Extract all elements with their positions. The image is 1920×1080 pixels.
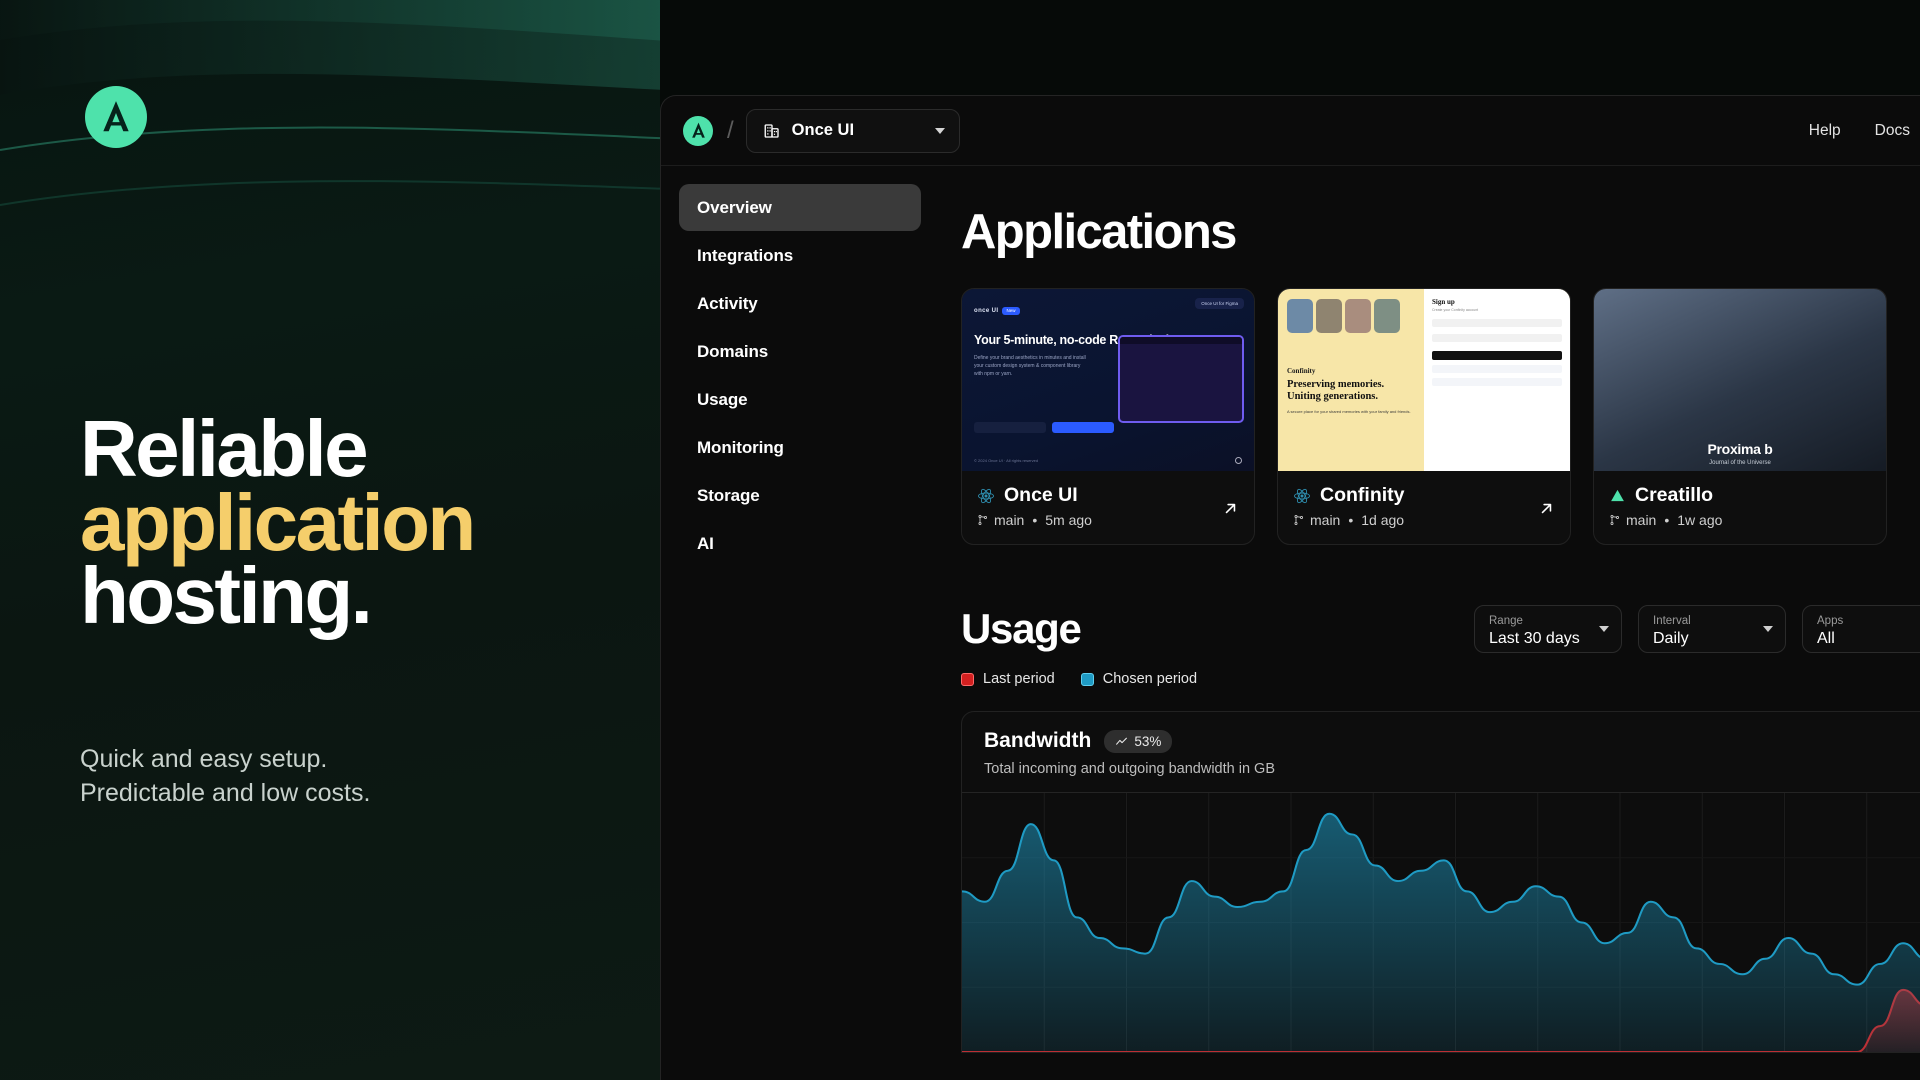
sidebar-item-ai[interactable]: AI — [679, 520, 921, 567]
card-title-row: Once UI — [977, 484, 1239, 507]
chart-legend: Last period Chosen period — [961, 671, 1920, 687]
card-meta-separator: • — [1664, 512, 1669, 528]
legend-item-chosen-period[interactable]: Chosen period — [1081, 671, 1197, 687]
arrow-up-right-icon[interactable] — [1537, 499, 1556, 518]
card-updated: 1w ago — [1677, 512, 1722, 528]
preview-right: Sign up Create your Confinity account — [1424, 289, 1570, 471]
card-footer: Creatillo mai — [1594, 471, 1886, 544]
vercel-icon — [1609, 487, 1626, 504]
preview-theme-toggle-icon — [1235, 457, 1242, 464]
sidebar-item-domains[interactable]: Domains — [679, 328, 921, 375]
card-updated: 5m ago — [1045, 512, 1092, 528]
apps-select[interactable]: Apps All — [1802, 605, 1920, 653]
application-card[interactable]: Proxima b Journal of the Universe Creati… — [1593, 288, 1887, 545]
preview-subtitle: Journal of the Universe — [1594, 460, 1886, 466]
sidebar-item-usage[interactable]: Usage — [679, 376, 921, 423]
hero-subtitle-line-2: Predictable and low costs. — [80, 776, 580, 810]
main-content: Applications once UINew Once UI for Figm… — [943, 166, 1920, 1080]
chevron-down-icon — [1763, 626, 1773, 632]
card-branch-label: main — [1626, 512, 1656, 528]
card-footer: Confinity mai — [1278, 471, 1570, 544]
git-branch-icon — [1293, 514, 1305, 526]
preview-photos — [1287, 299, 1415, 333]
acme-logo-icon — [85, 86, 147, 148]
status-badge: 53% — [1104, 730, 1172, 753]
bandwidth-subtitle: Total incoming and outgoing bandwidth in… — [984, 761, 1920, 777]
preview-form-title: Sign up — [1432, 298, 1562, 306]
bandwidth-chart-svg — [962, 793, 1920, 1052]
hero-title-line-3: hosting. — [80, 559, 640, 633]
card-branch: main — [977, 512, 1024, 528]
preview-social-google — [1432, 378, 1562, 386]
ribbon-decoration — [0, 0, 660, 300]
legend-label: Last period — [983, 671, 1055, 687]
apps-select-key: Apps — [1817, 614, 1920, 630]
preview-form-cta — [1432, 351, 1562, 360]
range-select-key: Range — [1489, 614, 1608, 630]
preview-social-facebook — [1432, 365, 1562, 373]
card-preview-once-ui: once UINew Once UI for Figma Your 5-minu… — [962, 289, 1254, 471]
bandwidth-panel: Bandwidth 53% Total incoming and outgoin… — [961, 711, 1920, 1053]
card-title-row: Confinity — [1293, 484, 1555, 507]
chevron-down-icon — [1599, 626, 1609, 632]
hero-title-accent: application — [80, 486, 640, 560]
card-meta-separator: • — [1032, 512, 1037, 528]
git-branch-icon — [977, 514, 989, 526]
card-branch-label: main — [994, 512, 1024, 528]
preview-brand: Confinity — [1287, 367, 1415, 375]
sidebar-item-monitoring[interactable]: Monitoring — [679, 424, 921, 471]
building-icon — [763, 122, 781, 140]
card-footer: Once UI main — [962, 471, 1254, 544]
preview-form-sub: Create your Confinity account — [1432, 308, 1562, 312]
preview-cta-button — [1052, 422, 1114, 433]
usage-controls: Range Last 30 days Interval Daily Apps A… — [1474, 605, 1920, 653]
card-meta-separator: • — [1348, 512, 1353, 528]
card-updated: 1d ago — [1361, 512, 1404, 528]
card-branch-label: main — [1310, 512, 1340, 528]
hero-title: Reliable application hosting. — [80, 412, 640, 633]
interval-select-key: Interval — [1653, 614, 1772, 630]
preview-copyright: © 2024 Once UI · All rights reserved — [974, 458, 1038, 463]
preview-form-field — [1432, 319, 1562, 327]
legend-item-last-period[interactable]: Last period — [961, 671, 1055, 687]
card-app-name: Creatillo — [1635, 484, 1713, 507]
interval-select[interactable]: Interval Daily — [1638, 605, 1786, 653]
card-preview-confinity: Confinity Preserving memories. Uniting g… — [1278, 289, 1570, 471]
hero-title-line-1: Reliable — [80, 412, 640, 486]
preview-photo — [1287, 299, 1313, 333]
preview-figma-button: Once UI for Figma — [1195, 298, 1244, 309]
page-title: Applications — [961, 204, 1920, 260]
application-card[interactable]: Confinity Preserving memories. Uniting g… — [1277, 288, 1571, 545]
git-branch-icon — [1609, 514, 1621, 526]
preview-body: Define your brand aesthetics in minutes … — [974, 355, 1089, 378]
apps-select-value: All — [1817, 629, 1920, 649]
card-meta: main • 1d ago — [1293, 512, 1555, 528]
top-bar: / Once UI Help D — [661, 96, 1920, 166]
legend-swatch — [961, 673, 974, 686]
card-branch: main — [1609, 512, 1656, 528]
help-link[interactable]: Help — [1809, 122, 1841, 140]
breadcrumb-separator: / — [727, 117, 734, 145]
arrow-up-right-icon[interactable] — [1221, 499, 1240, 518]
bandwidth-title: Bandwidth — [984, 729, 1091, 753]
preview-title: Proxima b — [1594, 441, 1886, 457]
hero-subtitle-line-1: Quick and easy setup. — [80, 742, 580, 776]
hero-subtitle: Quick and easy setup. Predictable and lo… — [80, 742, 580, 810]
preview-screenshot — [1118, 335, 1244, 423]
marketing-hero: Reliable application hosting. Quick and … — [0, 0, 660, 1080]
project-selector[interactable]: Once UI — [746, 109, 960, 153]
range-select[interactable]: Range Last 30 days — [1474, 605, 1622, 653]
preview-email-field — [974, 422, 1046, 433]
preview-headline: Preserving memories. Uniting generations… — [1287, 379, 1415, 403]
app-logo-glyph — [689, 121, 708, 140]
application-cards: once UINew Once UI for Figma Your 5-minu… — [961, 288, 1920, 545]
trend-up-icon — [1115, 735, 1128, 748]
card-meta: main • 5m ago — [977, 512, 1239, 528]
app-window: / Once UI Help D — [660, 95, 1920, 1080]
bandwidth-panel-header: Bandwidth 53% Total incoming and outgoin… — [962, 712, 1920, 792]
preview-brand: once UI — [974, 308, 998, 314]
app-logo-icon[interactable] — [683, 116, 713, 146]
interval-select-value: Daily — [1653, 629, 1772, 649]
legend-swatch — [1081, 673, 1094, 686]
bandwidth-chart — [962, 792, 1920, 1052]
usage-title: Usage — [961, 605, 1081, 653]
docs-link[interactable]: Docs — [1875, 122, 1910, 140]
card-meta: main • 1w ago — [1609, 512, 1871, 528]
sidebar: Overview Integrations Activity Domains U… — [661, 166, 943, 1080]
preview-photo — [1374, 299, 1400, 333]
preview-headline-line-2: Uniting generations. — [1287, 391, 1378, 402]
sidebar-item-activity[interactable]: Activity — [679, 280, 921, 327]
preview-photo — [1345, 299, 1371, 333]
card-preview-creatillo: Proxima b Journal of the Universe — [1594, 289, 1886, 471]
acme-logo-glyph — [97, 98, 135, 136]
react-icon — [977, 487, 995, 505]
range-select-value: Last 30 days — [1489, 629, 1608, 649]
preview-form-field — [1432, 334, 1562, 342]
application-card[interactable]: once UINew Once UI for Figma Your 5-minu… — [961, 288, 1255, 545]
react-icon — [1293, 487, 1311, 505]
top-bar-links: Help Docs — [1809, 122, 1910, 140]
preview-headline-line-1: Preserving memories. — [1287, 379, 1384, 390]
preview-body: A secure place for your shared memories … — [1287, 409, 1415, 415]
preview-photo — [1316, 299, 1342, 333]
project-selector-label: Once UI — [792, 121, 916, 140]
card-branch: main — [1293, 512, 1340, 528]
preview-badge: New — [1002, 307, 1019, 315]
card-title-row: Creatillo — [1609, 484, 1871, 507]
bandwidth-title-row: Bandwidth 53% — [984, 729, 1920, 753]
card-app-name: Once UI — [1004, 484, 1078, 507]
usage-header: Usage Range Last 30 days Interval Daily — [961, 605, 1920, 653]
sidebar-item-storage[interactable]: Storage — [679, 472, 921, 519]
preview-left: Confinity Preserving memories. Uniting g… — [1278, 289, 1424, 471]
chevron-down-icon — [935, 128, 945, 134]
sidebar-item-overview[interactable]: Overview — [679, 184, 921, 231]
card-app-name: Confinity — [1320, 484, 1404, 507]
legend-label: Chosen period — [1103, 671, 1197, 687]
status-badge-label: 53% — [1134, 734, 1161, 749]
sidebar-item-integrations[interactable]: Integrations — [679, 232, 921, 279]
